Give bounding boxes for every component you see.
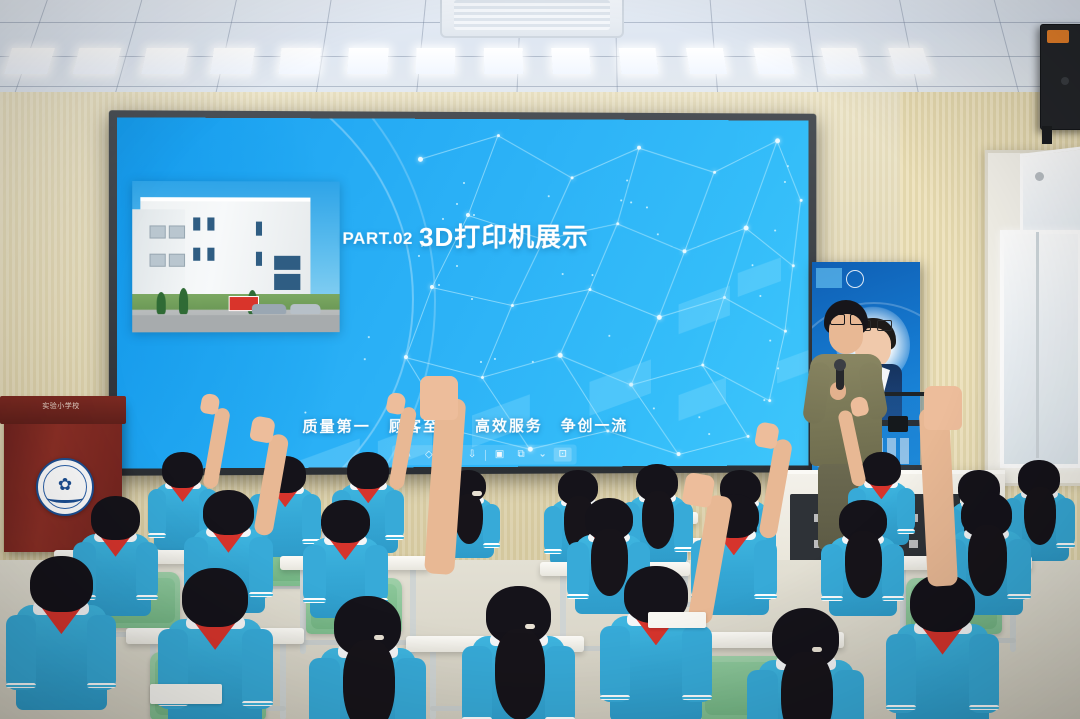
raised-hand (420, 376, 458, 420)
raised-hand (754, 421, 780, 449)
company-logo-icon (846, 270, 864, 288)
notebook (150, 684, 222, 704)
slogan-item-0: 质量第一 (302, 418, 370, 435)
student-head (347, 452, 389, 489)
hair-tie (525, 624, 535, 629)
present-icon[interactable]: ⊡ (554, 448, 572, 462)
ponytail (455, 494, 483, 544)
student-head (91, 496, 140, 540)
raised-hand (385, 391, 407, 415)
slogan-item-3: 争创一流 (561, 417, 628, 434)
student-head (182, 568, 249, 627)
student-head (162, 452, 203, 488)
wall-speaker (1040, 24, 1080, 130)
student-head (862, 452, 900, 486)
ponytail (968, 525, 1007, 596)
raised-hand (924, 386, 962, 430)
ponytail (781, 652, 833, 719)
ponytail (845, 531, 882, 597)
screen-icon[interactable]: ▣ (489, 448, 510, 462)
emblem-glyph: ✿ (38, 475, 92, 495)
slide-title-main: 3D打印机展示 (419, 222, 589, 252)
window-pane (1000, 230, 1080, 468)
slide-title-part: PART.02 (342, 229, 413, 248)
banner-accent-square (816, 268, 842, 288)
hair-tie (374, 635, 384, 640)
ponytail (642, 491, 674, 549)
school-emblem: ✿ (36, 458, 94, 516)
slogan-item-2: 高效服务 (475, 418, 543, 435)
notebook (648, 612, 706, 628)
hair-tie (472, 491, 482, 496)
ponytail (591, 529, 628, 595)
ponytail (1024, 487, 1056, 545)
speaker-mount (1042, 126, 1052, 144)
window-hinge-icon (1035, 172, 1044, 181)
cut-icon[interactable]: ⧉ (511, 448, 532, 462)
student-head (30, 556, 93, 612)
slide-building-photo (132, 181, 339, 332)
hair-tie (812, 647, 822, 652)
student-head (203, 490, 254, 535)
presentation-toolbar[interactable]: ✎◇⌕⇩▣⧉⌄⊡ (392, 445, 577, 466)
pointer-icon[interactable]: ⇩ (462, 448, 483, 462)
ponytail (495, 629, 545, 719)
chevron-down-icon[interactable]: ⌄ (532, 448, 552, 462)
student-head (321, 500, 370, 543)
raised-hand (249, 416, 276, 445)
podium-sign-text: 实验小学校 (6, 399, 116, 414)
ponytail (343, 640, 395, 719)
air-conditioner-vent (440, 0, 624, 38)
slide-title: PART.023D打印机展示 (117, 216, 809, 254)
window-mullion (1036, 232, 1039, 458)
classroom-scene: PART.023D打印机展示 质量第一顾客至上高效服务争创一流 ✎◇⌕⇩▣⧉⌄⊡… (0, 0, 1080, 719)
podium-top: 实验小学校 (0, 396, 126, 424)
microphone-icon (836, 364, 844, 390)
